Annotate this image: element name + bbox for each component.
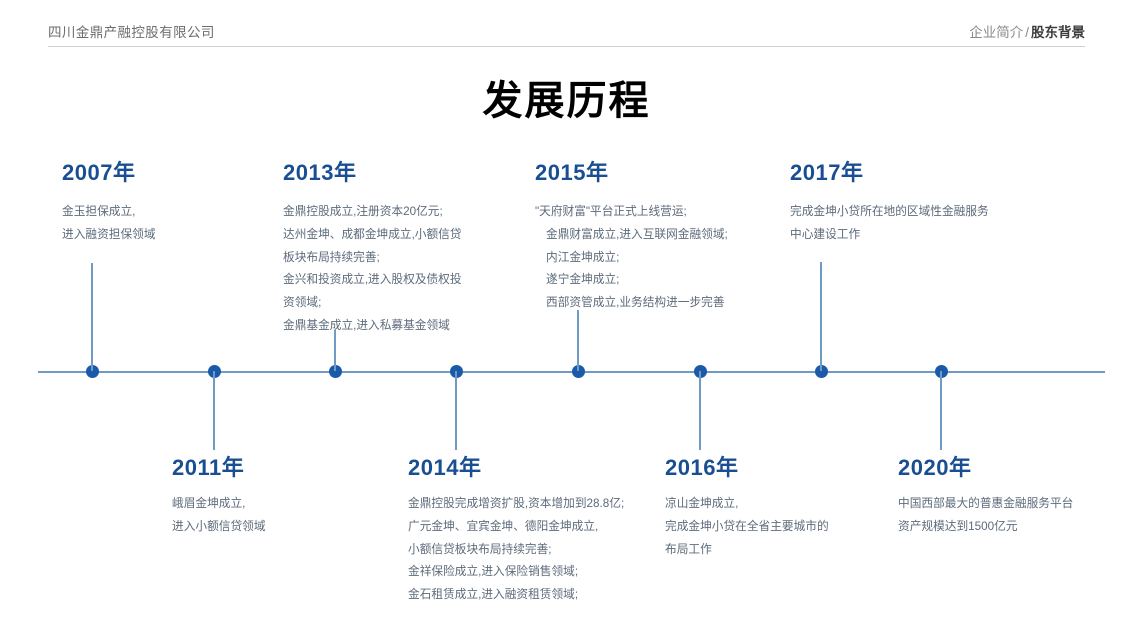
timeline-event: 2016年凉山金坤成立,完成金坤小贷在全省主要城市的布局工作: [665, 450, 829, 561]
event-description-line: 中国西部最大的普惠金融服务平台: [898, 493, 1073, 516]
event-description-line: 进入融资担保领域: [62, 224, 156, 247]
event-description-line: 进入小额信贷领域: [172, 516, 266, 539]
event-year-label: 2014年: [408, 450, 624, 482]
event-description-line: 遂宁金坤成立;: [535, 269, 728, 292]
page-title: 发展历程: [0, 68, 1133, 126]
timeline-connector: [91, 263, 92, 371]
event-description-line: 金鼎基金成立,进入私募基金领域: [283, 315, 462, 338]
timeline-event: 2014年金鼎控股完成增资扩股,资本增加到28.8亿;广元金坤、宜宾金坤、德阳金…: [408, 450, 624, 607]
event-description-line: 中心建设工作: [790, 224, 989, 247]
event-description-line: 金鼎财富成立,进入互联网金融领域;: [535, 224, 728, 247]
event-description-line: 广元金坤、宜宾金坤、德阳金坤成立,: [408, 516, 624, 539]
event-description-line: "天府财富"平台正式上线营运;: [535, 201, 728, 224]
event-year-label: 2011年: [172, 450, 266, 482]
event-description-line: 资领域;: [283, 292, 462, 315]
breadcrumb-item-shareholder-background[interactable]: 股东背景: [1031, 25, 1085, 40]
timeline-connector: [820, 262, 821, 371]
event-description-line: 金祥保险成立,进入保险销售领域;: [408, 561, 624, 584]
event-description: 凉山金坤成立,完成金坤小贷在全省主要城市的布局工作: [665, 493, 829, 561]
company-name: 四川金鼎产融控股有限公司: [48, 21, 215, 41]
event-description-line: 板块布局持续完善;: [283, 247, 462, 270]
event-description-line: 金玉担保成立,: [62, 201, 156, 224]
event-description: "天府财富"平台正式上线营运;金鼎财富成立,进入互联网金融领域;内江金坤成立;遂…: [535, 201, 728, 315]
event-description-line: 完成金坤小贷所在地的区域性金融服务: [790, 201, 989, 224]
event-year-label: 2015年: [535, 155, 728, 187]
timeline-event: 2015年"天府财富"平台正式上线营运;金鼎财富成立,进入互联网金融领域;内江金…: [535, 155, 728, 315]
event-description-line: 布局工作: [665, 539, 829, 562]
event-description-line: 凉山金坤成立,: [665, 493, 829, 516]
event-description-line: 内江金坤成立;: [535, 247, 728, 270]
event-description-line: 西部资管成立,业务结构进一步完善: [535, 292, 728, 315]
event-description: 峨眉金坤成立,进入小额信贷领域: [172, 493, 266, 539]
timeline-event: 2007年金玉担保成立,进入融资担保领域: [62, 155, 156, 247]
timeline-event: 2011年峨眉金坤成立,进入小额信贷领域: [172, 450, 266, 539]
page-header: 四川金鼎产融控股有限公司 企业简介/股东背景: [0, 0, 1133, 47]
breadcrumb-item-company-profile[interactable]: 企业简介: [969, 25, 1023, 40]
event-description-line: 完成金坤小贷在全省主要城市的: [665, 516, 829, 539]
timeline-event: 2017年完成金坤小贷所在地的区域性金融服务中心建设工作: [790, 155, 989, 247]
timeline-connector: [699, 371, 700, 450]
event-description-line: 金兴和投资成立,进入股权及债权投: [283, 269, 462, 292]
event-description-line: 金石租赁成立,进入融资租赁领域;: [408, 584, 624, 607]
timeline-connector: [577, 310, 578, 371]
timeline-connector: [455, 371, 456, 450]
event-description: 金鼎控股完成增资扩股,资本增加到28.8亿;广元金坤、宜宾金坤、德阳金坤成立,小…: [408, 493, 624, 607]
event-description: 金鼎控股成立,注册资本20亿元;达州金坤、成都金坤成立,小额信贷板块布局持续完善…: [283, 201, 462, 338]
event-description-line: 达州金坤、成都金坤成立,小额信贷: [283, 224, 462, 247]
event-description: 完成金坤小贷所在地的区域性金融服务中心建设工作: [790, 201, 989, 247]
timeline-event: 2020年中国西部最大的普惠金融服务平台资产规模达到1500亿元: [898, 450, 1073, 539]
event-year-label: 2017年: [790, 155, 989, 187]
breadcrumb: 企业简介/股东背景: [969, 21, 1085, 41]
event-description-line: 资产规模达到1500亿元: [898, 516, 1073, 539]
event-description-line: 金鼎控股成立,注册资本20亿元;: [283, 201, 462, 224]
timeline-connector: [940, 371, 941, 450]
breadcrumb-separator: /: [1023, 25, 1031, 40]
event-year-label: 2013年: [283, 155, 462, 187]
event-description: 金玉担保成立,进入融资担保领域: [62, 201, 156, 247]
event-description-line: 金鼎控股完成增资扩股,资本增加到28.8亿;: [408, 493, 624, 516]
event-year-label: 2020年: [898, 450, 1073, 482]
event-description: 中国西部最大的普惠金融服务平台资产规模达到1500亿元: [898, 493, 1073, 539]
header-divider: [48, 46, 1085, 47]
timeline-connector: [213, 371, 214, 450]
event-year-label: 2016年: [665, 450, 829, 482]
event-year-label: 2007年: [62, 155, 156, 187]
event-description-line: 小额信贷板块布局持续完善;: [408, 539, 624, 562]
timeline-event: 2013年金鼎控股成立,注册资本20亿元;达州金坤、成都金坤成立,小额信贷板块布…: [283, 155, 462, 338]
event-description-line: 峨眉金坤成立,: [172, 493, 266, 516]
